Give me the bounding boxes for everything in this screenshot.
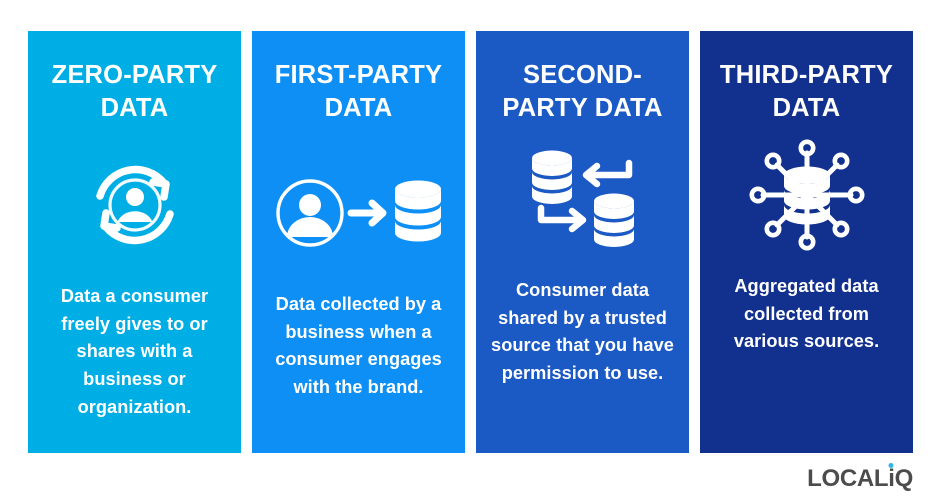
card-title-zero-party: ZERO-PARTY DATA (52, 59, 218, 125)
logo-i-letter: i (888, 465, 894, 492)
infographic-canvas: ZERO-PARTY DATA Dat (0, 0, 936, 500)
database-network-nodes-icon (747, 137, 867, 253)
card-description-first-party: Data collected by a business when a cons… (270, 291, 448, 402)
logo-text-i: i (888, 467, 894, 491)
card-third-party[interactable]: THIRD-PARTY DATA (700, 31, 913, 453)
localiq-logo: LOCALiQ (807, 467, 913, 491)
card-zero-party[interactable]: ZERO-PARTY DATA Dat (28, 31, 241, 453)
two-databases-exchange-icon (521, 141, 645, 257)
logo-text-local: LOCAL (807, 467, 888, 491)
person-arrow-database-icon (273, 155, 445, 271)
logo-text-q: Q (895, 467, 913, 491)
card-second-party[interactable]: SECOND- PARTY DATA (476, 31, 689, 453)
cycle-arrows-person-icon (80, 147, 190, 263)
data-type-cards-row: ZERO-PARTY DATA Dat (28, 31, 913, 453)
card-description-third-party: Aggregated data collected from various s… (712, 273, 902, 356)
card-first-party[interactable]: FIRST-PARTY DATA Data collecte (252, 31, 465, 453)
card-description-second-party: Consumer data shared by a trusted source… (490, 277, 676, 388)
logo-dot-icon (889, 463, 894, 468)
card-description-zero-party: Data a consumer freely gives to or share… (46, 283, 224, 421)
card-title-third-party: THIRD-PARTY DATA (720, 59, 893, 125)
card-title-first-party: FIRST-PARTY DATA (275, 59, 442, 125)
card-title-second-party: SECOND- PARTY DATA (502, 59, 662, 125)
